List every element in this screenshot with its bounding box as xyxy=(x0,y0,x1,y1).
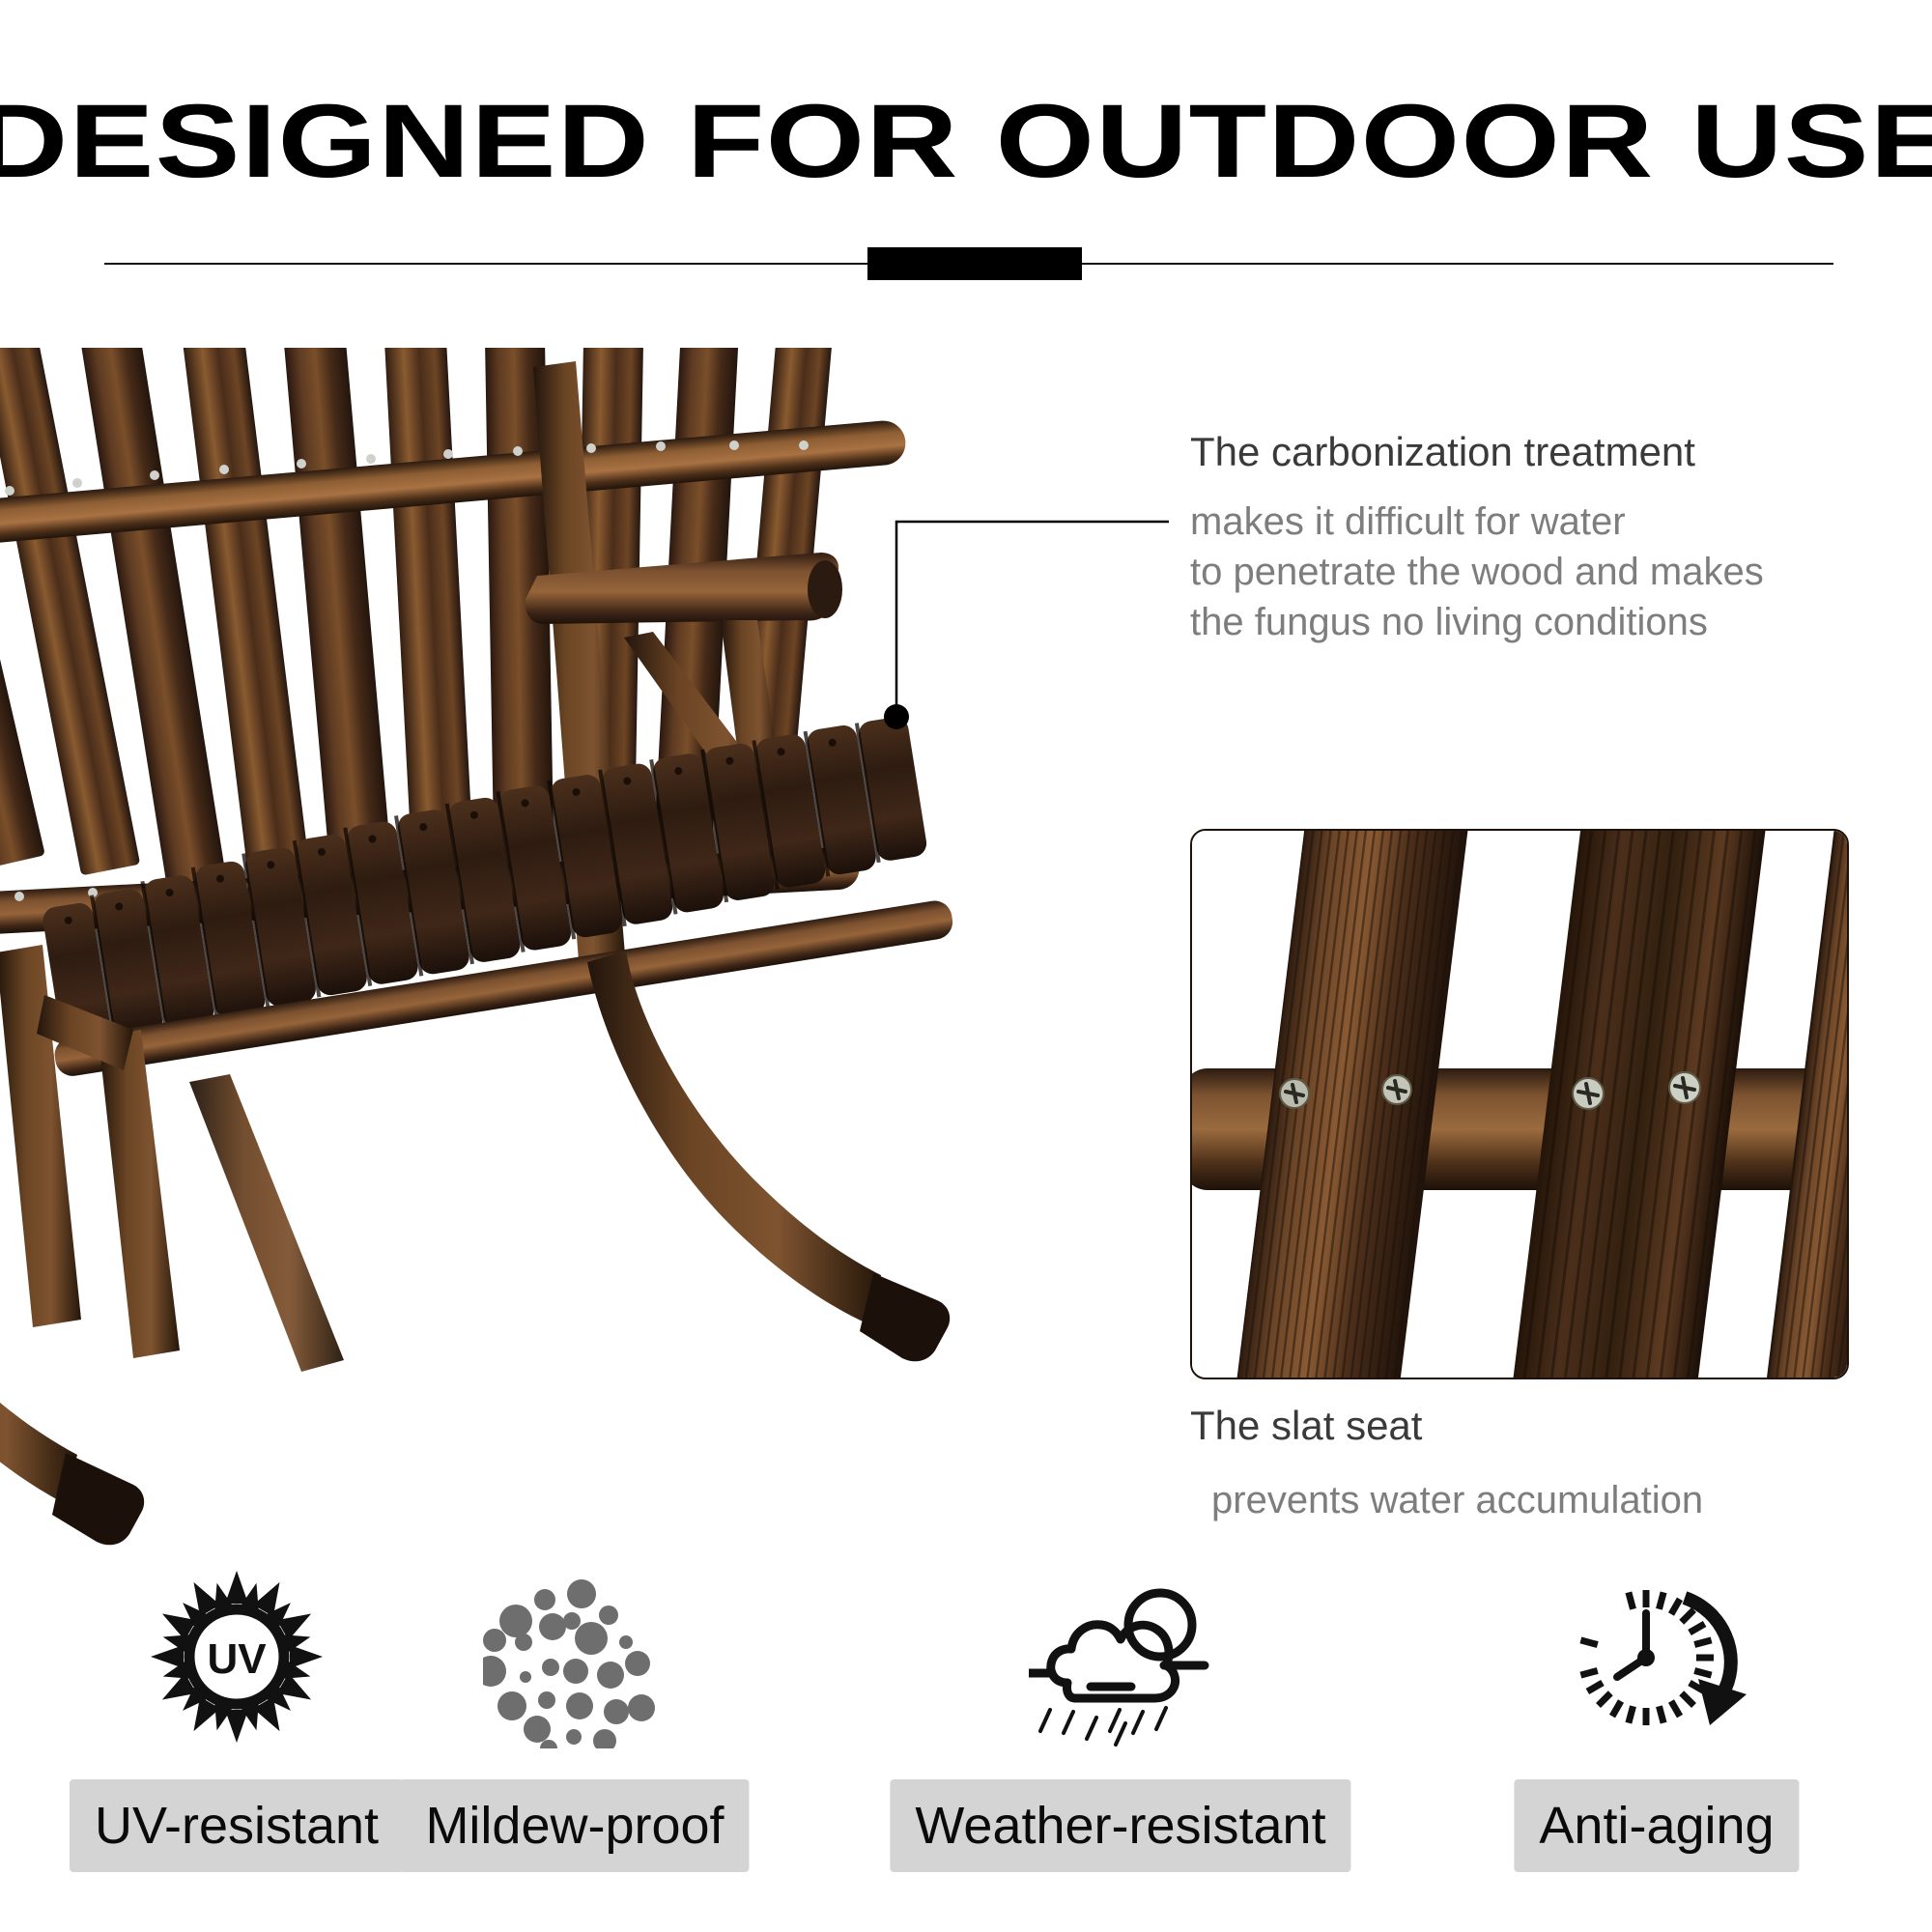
feature-label-anti-aging[interactable]: Anti-aging xyxy=(1514,1779,1799,1872)
detail-photo-slat-screws xyxy=(1190,829,1849,1379)
callout-anchor-dot xyxy=(884,704,909,729)
uv-icon-text: UV xyxy=(207,1635,267,1683)
screw-4 xyxy=(1669,1072,1700,1103)
feature-label-mildew-proof[interactable]: Mildew-proof xyxy=(400,1779,749,1872)
clock-center xyxy=(1637,1649,1655,1666)
caption-slat-seat: The slat seat prevents water accumulatio… xyxy=(1190,1401,1905,1524)
screw-1 xyxy=(1280,1079,1309,1108)
feature-label-uv-resistant[interactable]: UV-resistant xyxy=(70,1779,404,1872)
callout-body-line-3: the fungus no living conditions xyxy=(1190,597,1905,647)
feature-anti-aging: Anti-aging xyxy=(1459,1565,1855,1884)
rear-leg xyxy=(99,1030,180,1358)
callout-carbonization: The carbonization treatment makes it dif… xyxy=(1190,425,1905,647)
screw-2 xyxy=(1382,1075,1411,1104)
screw-3 xyxy=(1573,1078,1604,1109)
feature-mildew-proof: Mildew-proof xyxy=(411,1565,739,1884)
rocker-runner-right xyxy=(587,951,950,1361)
title-divider-block xyxy=(867,247,1082,280)
slat-caption-heading: The slat seat xyxy=(1190,1401,1905,1451)
callout-body: makes it difficult for water to penetrat… xyxy=(1190,497,1905,647)
slat-caption-body: prevents water accumulation xyxy=(1211,1476,1905,1524)
clock-arrow-icon xyxy=(1565,1565,1748,1748)
callout-heading: The carbonization treatment xyxy=(1190,425,1905,479)
rocker-runner-left xyxy=(0,1294,144,1545)
header-band: DESIGNED FOR OUTDOOR USE xyxy=(0,0,1932,290)
mold-spores-icon xyxy=(483,1565,667,1748)
rain-streaks xyxy=(1040,1708,1166,1745)
rain-cloud-sun-icon xyxy=(1029,1565,1212,1748)
uv-sun-icon: UV xyxy=(145,1565,328,1748)
rear-angled-brace xyxy=(189,1074,344,1372)
feature-badge-row: UV UV-resistant xyxy=(77,1565,1855,1884)
callout-body-line-2: to penetrate the wood and makes xyxy=(1190,547,1905,597)
clock-hands xyxy=(1617,1613,1646,1677)
feature-label-weather-resistant[interactable]: Weather-resistant xyxy=(890,1779,1350,1872)
feature-weather-resistant: Weather-resistant xyxy=(811,1565,1430,1884)
callout-body-line-1: makes it difficult for water xyxy=(1190,497,1905,547)
page-title: DESIGNED FOR OUTDOOR USE xyxy=(0,89,1932,193)
callout-leader-line xyxy=(850,502,1198,734)
feature-uv-resistant: UV UV-resistant xyxy=(77,1565,396,1884)
